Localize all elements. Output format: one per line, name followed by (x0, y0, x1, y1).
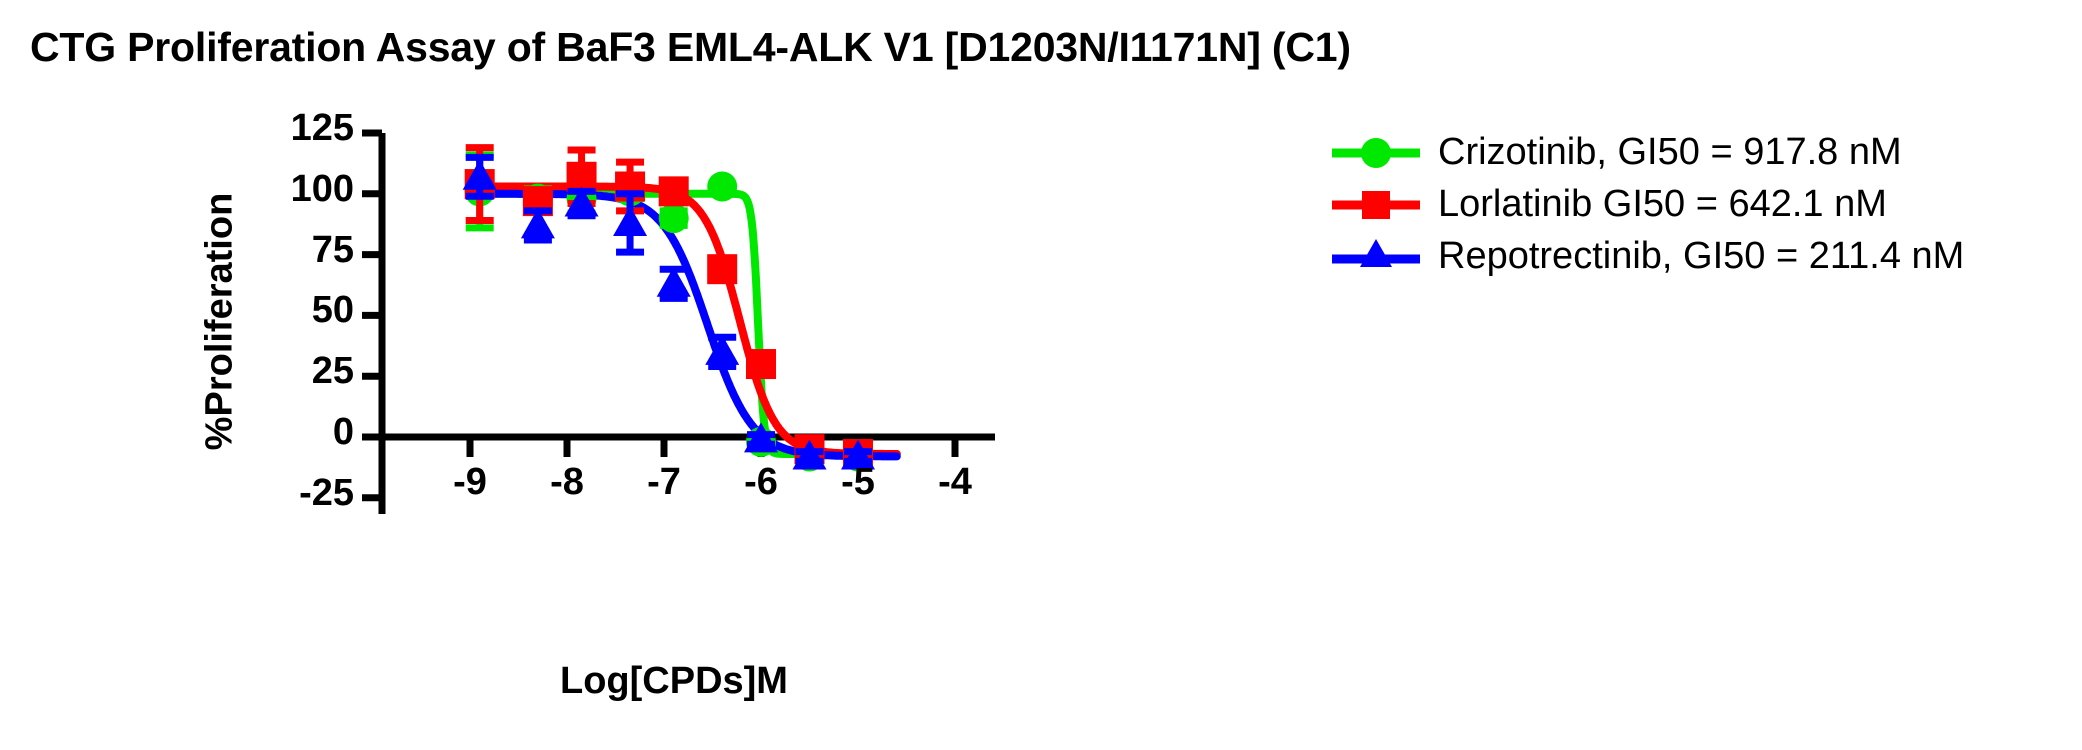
y-tick-label: 25 (312, 350, 354, 393)
datapoint-lorlatinib (659, 176, 689, 206)
y-tick-label: -25 (299, 472, 354, 515)
x-tick-label: -4 (915, 461, 995, 504)
legend-item-lorlatinib[interactable]: Lorlatinib GI50 = 642.1 nM (1330, 182, 1964, 227)
legend-item-crizotinib[interactable]: Crizotinib, GI50 = 917.8 nM (1330, 130, 1964, 175)
chart-page: CTG Proliferation Assay of BaF3 EML4-ALK… (0, 0, 2082, 750)
x-tick-label: -9 (430, 461, 510, 504)
legend-marker-triangle-icon (1330, 237, 1422, 277)
y-axis-label: %Proliferation (199, 172, 242, 472)
y-tick-label: 125 (291, 107, 354, 150)
legend-marker-square-icon (1330, 185, 1422, 225)
legend-label-repotrectinib: Repotrectinib, GI50 = 211.4 nM (1438, 235, 1964, 278)
x-tick-label: -8 (527, 461, 607, 504)
x-tick-label: -7 (624, 461, 704, 504)
datapoint-lorlatinib (707, 254, 737, 284)
x-tick-label: -6 (721, 461, 801, 504)
legend-marker-circle-icon (1330, 133, 1422, 173)
datapoint-lorlatinib (746, 349, 776, 379)
chart-legend: Crizotinib, GI50 = 917.8 nM Lorlatinib G… (1330, 130, 1964, 286)
y-tick-label: 0 (333, 411, 354, 454)
datapoint-crizotinib (659, 203, 689, 233)
x-axis-label: Log[CPDs]M (560, 660, 788, 703)
datapoint-crizotinib (707, 172, 737, 202)
y-tick-label: 75 (312, 229, 354, 272)
legend-label-lorlatinib: Lorlatinib GI50 = 642.1 nM (1438, 183, 1887, 226)
y-tick-label: 100 (291, 168, 354, 211)
y-tick-label: 50 (312, 289, 354, 332)
x-tick-label: -5 (818, 461, 898, 504)
legend-item-repotrectinib[interactable]: Repotrectinib, GI50 = 211.4 nM (1330, 234, 1964, 279)
legend-label-crizotinib: Crizotinib, GI50 = 917.8 nM (1438, 131, 1902, 174)
